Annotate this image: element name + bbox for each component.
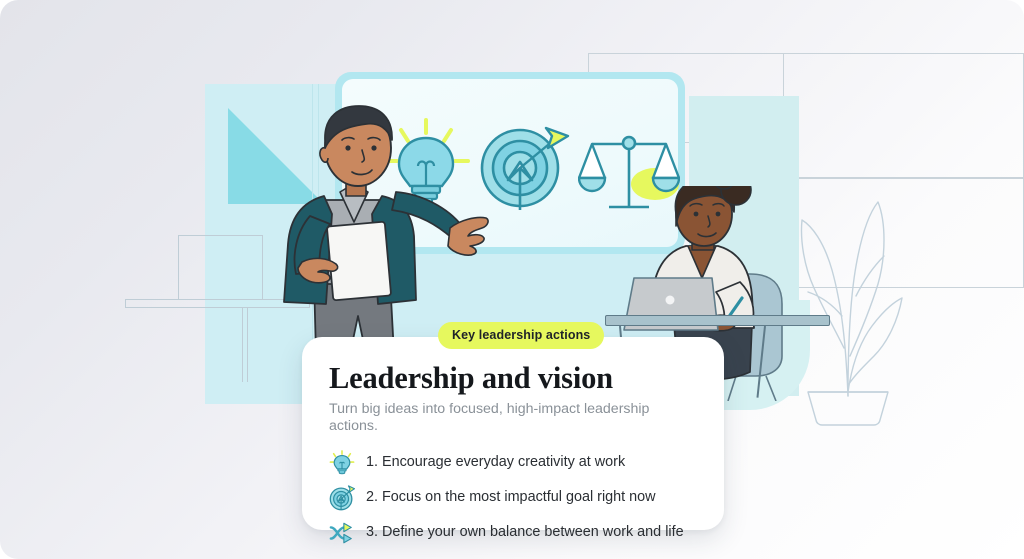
laptop [620, 276, 720, 340]
background-outline-rect-2 [783, 53, 1024, 178]
lightbulb-icon [329, 450, 355, 476]
list-item: 2. Focus on the most impactful goal righ… [329, 485, 698, 511]
list-item-label: 3. Define your own balance between work … [366, 524, 684, 541]
leadership-card: Leadership and vision Turn big ideas int… [302, 337, 724, 530]
background-outline-monitor [178, 235, 263, 300]
list-item: 3. Define your own balance between work … [329, 520, 698, 546]
list-item: 1. Encourage everyday creativity at work [329, 450, 698, 476]
card-subtitle: Turn big ideas into focused, high-impact… [329, 401, 698, 437]
desk-top [605, 315, 830, 326]
status-badge: Key leadership actions [438, 322, 604, 349]
shuffle-arrows-icon [329, 520, 355, 546]
action-list: 1. Encourage everyday creativity at work… [329, 450, 698, 546]
list-item-label: 1. Encourage everyday creativity at work [366, 454, 625, 471]
page-title: Leadership and vision [329, 363, 698, 394]
presenter-figure [262, 104, 492, 354]
list-item-label: 2. Focus on the most impactful goal righ… [366, 489, 656, 506]
illustration-canvas: Key leadership actions Leadership and vi… [0, 0, 1024, 559]
background-outline-desk-leg [242, 307, 248, 382]
target-arrow-icon [329, 485, 355, 511]
